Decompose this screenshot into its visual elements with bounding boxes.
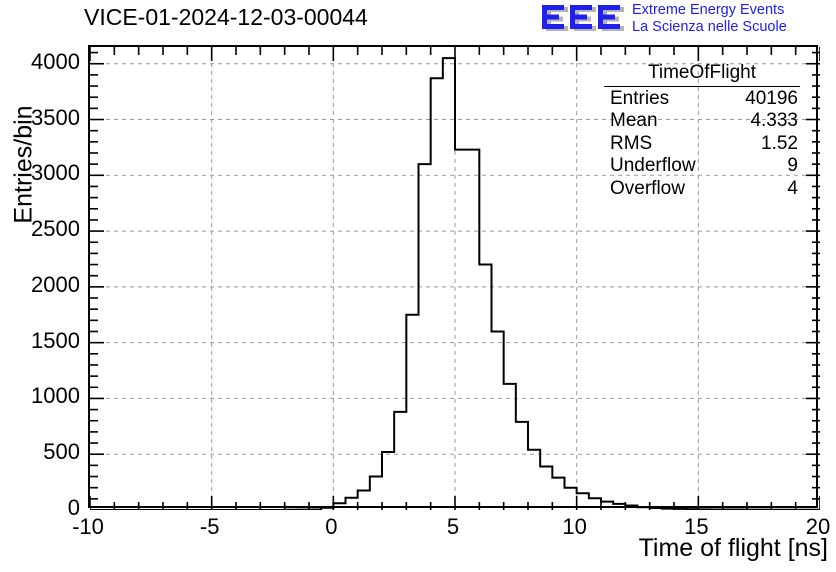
stats-rows: Entries40196Mean4.333RMS1.52Underflow9Ov… <box>604 88 800 201</box>
x-tick-label: 0 <box>325 514 337 540</box>
y-tick-label: 4000 <box>8 49 80 75</box>
y-tick-label: 2000 <box>8 272 80 298</box>
stats-row: Underflow9 <box>604 155 800 178</box>
y-tick-label: 500 <box>8 439 80 465</box>
x-tick-label: 15 <box>684 514 708 540</box>
y-tick-label: 0 <box>8 495 80 521</box>
eee-logo-icon <box>540 4 626 34</box>
x-tick-label: -5 <box>200 514 220 540</box>
stats-value: 4 <box>787 178 798 201</box>
page-title: VICE-01-2024-12-03-00044 <box>84 4 368 31</box>
eee-logo: Extreme Energy Events La Scienza nelle S… <box>540 2 836 40</box>
y-tick-label: 1500 <box>8 328 80 354</box>
x-tick-label: 5 <box>447 514 459 540</box>
stats-box: TimeOfFlight Entries40196Mean4.333RMS1.5… <box>604 62 800 200</box>
stats-row: RMS1.52 <box>604 133 800 156</box>
eee-logo-line1: Extreme Energy Events <box>632 2 787 19</box>
eee-logo-text: Extreme Energy Events La Scienza nelle S… <box>632 2 787 36</box>
stats-key: Mean <box>610 110 658 133</box>
x-tick-label: 20 <box>806 514 830 540</box>
stats-divider <box>604 86 800 87</box>
x-axis-title: Time of flight [ns] <box>480 534 828 563</box>
stats-value: 1.52 <box>761 133 798 156</box>
y-tick-label: 3500 <box>8 105 80 131</box>
stats-key: RMS <box>610 133 652 156</box>
stats-value: 4.333 <box>750 110 798 133</box>
y-tick-label: 2500 <box>8 216 80 242</box>
eee-logo-line2: La Scienza nelle Scuole <box>632 19 787 36</box>
stats-key: Entries <box>610 88 669 111</box>
x-tick-label: 10 <box>562 514 586 540</box>
stats-row: Overflow4 <box>604 178 800 201</box>
y-tick-label: 1000 <box>8 383 80 409</box>
stats-row: Entries40196 <box>604 88 800 111</box>
y-tick-label: 3000 <box>8 160 80 186</box>
stats-value: 40196 <box>745 88 798 111</box>
stats-title: TimeOfFlight <box>604 62 800 86</box>
stats-row: Mean4.333 <box>604 110 800 133</box>
stats-key: Overflow <box>610 178 685 201</box>
plot-canvas: VICE-01-2024-12-03-00044 Extreme Energy … <box>0 0 836 572</box>
stats-key: Underflow <box>610 155 696 178</box>
stats-value: 9 <box>787 155 798 178</box>
